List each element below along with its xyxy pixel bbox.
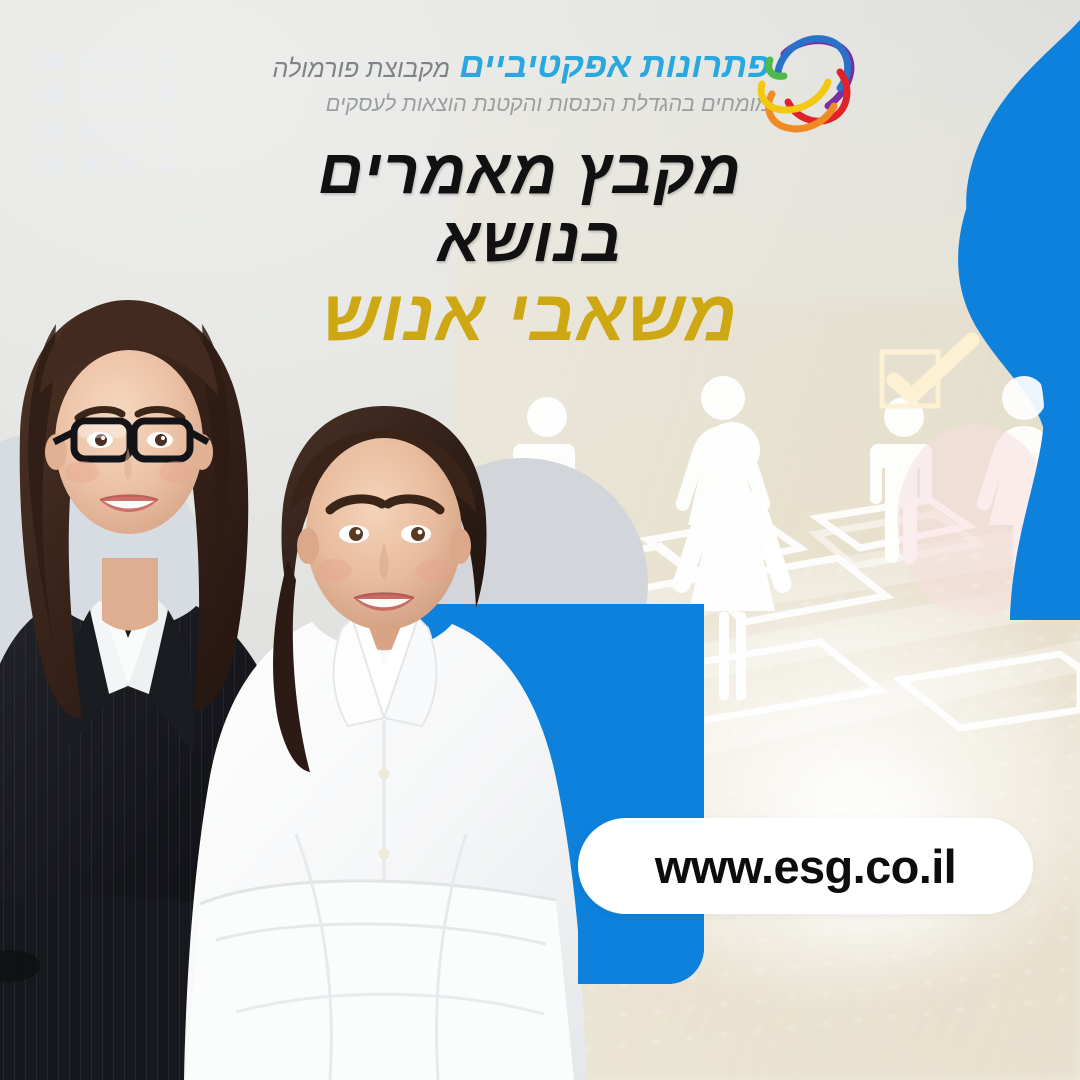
logo-primary-line: פתרונות אפקטיביים מקבוצת פורמולה (270, 46, 770, 89)
company-logo[interactable]: פתרונות אפקטיביים מקבוצת פורמולה מומחים … (272, 44, 854, 140)
blue-panel-trim (578, 604, 704, 984)
headline-line-1: מקבץ מאמרים (200, 138, 860, 206)
headline-subject: משאבי אנוש (200, 276, 860, 356)
logo-text-block: פתרונות אפקטיביים מקבוצת פורמולה מומחים … (270, 46, 770, 119)
headline-block: מקבץ מאמרים בנושא (200, 138, 860, 274)
photo-businesswoman-white-shirt (176, 384, 626, 1080)
headline-line-2: בנושא (200, 206, 860, 274)
logo-group-name: מקבוצת פורמולה (273, 55, 451, 83)
blue-wave-shape-main (860, 0, 1080, 620)
orbit-swirl-icon (754, 32, 860, 136)
promo-banner: www.esg.co.il פתרונות אפקטיביים מקבוצת פ… (0, 0, 1080, 1080)
website-url-label: www.esg.co.il (655, 839, 956, 894)
logo-tagline: מומחים בהגדלת הכנסות והקטנת הוצאות לעסקי… (270, 89, 770, 119)
logo-brand-name: פתרונות אפקטיביים (459, 46, 770, 85)
website-url-button[interactable]: www.esg.co.il (578, 818, 1033, 914)
